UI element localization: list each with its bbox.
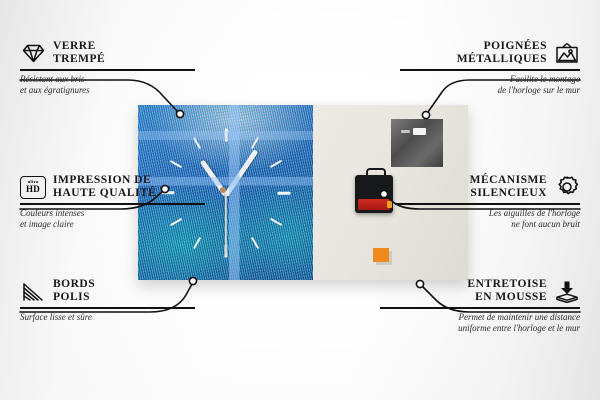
- divider: [400, 69, 580, 71]
- feature-mecanisme-silencieux: MÉCANISME SILENCIEUX Les aiguilles de l'…: [395, 174, 580, 230]
- clock-center-pin: [220, 187, 226, 193]
- divider: [20, 203, 205, 205]
- divider: [380, 307, 580, 309]
- feature-title: BORDS POLIS: [53, 278, 95, 304]
- ultra-hd-icon: ultra HD: [20, 176, 46, 198]
- connector-dot-mecanisme: [380, 190, 387, 197]
- divider: [395, 203, 580, 205]
- feature-title: POIGNÉES MÉTALLIQUES: [457, 40, 547, 66]
- divider: [20, 307, 195, 309]
- connector-dot-verre-trempe: [176, 110, 183, 117]
- diamond-icon: [20, 42, 46, 64]
- feature-desc: Permet de maintenir une distance uniform…: [380, 312, 580, 334]
- foam-spacer-icon: [554, 280, 580, 302]
- feature-verre-trempe: VERRE TREMPÉ Résistant aux bris et aux é…: [20, 40, 195, 96]
- feature-title: ENTRETOISE EN MOUSSE: [467, 278, 547, 304]
- feature-desc: Couleurs intenses et image claire: [20, 208, 205, 230]
- feature-desc: Résistant aux bris et aux égratignures: [20, 74, 195, 96]
- feature-desc: Facilite le montage de l'horloge sur le …: [400, 74, 580, 96]
- connector-dot-poignees: [422, 111, 429, 118]
- feature-impression-haute-qualite: ultra HD IMPRESSION DE HAUTE QUALITÉ Cou…: [20, 174, 205, 230]
- infographic-canvas: VERRE TREMPÉ Résistant aux bris et aux é…: [0, 0, 600, 400]
- feature-bords-polis: BORDS POLIS Surface lisse et sûre: [20, 278, 195, 323]
- divider: [20, 69, 195, 71]
- picture-frame-icon: [554, 42, 580, 64]
- ultra-hd-icon-main: HD: [26, 185, 40, 194]
- feature-entretoise-en-mousse: ENTRETOISE EN MOUSSE Permet de maintenir…: [380, 278, 580, 334]
- feature-desc: Les aiguilles de l'horloge ne font aucun…: [395, 208, 580, 230]
- polished-edge-icon: [20, 280, 46, 302]
- feature-poignees-metalliques: POIGNÉES MÉTALLIQUES Facilite le montage…: [400, 40, 580, 96]
- feature-title: VERRE TREMPÉ: [53, 40, 105, 66]
- feature-desc: Surface lisse et sûre: [20, 312, 195, 323]
- feature-title: MÉCANISME SILENCIEUX: [470, 174, 547, 200]
- feature-title: IMPRESSION DE HAUTE QUALITÉ: [53, 174, 156, 200]
- gear-icon: [554, 176, 580, 198]
